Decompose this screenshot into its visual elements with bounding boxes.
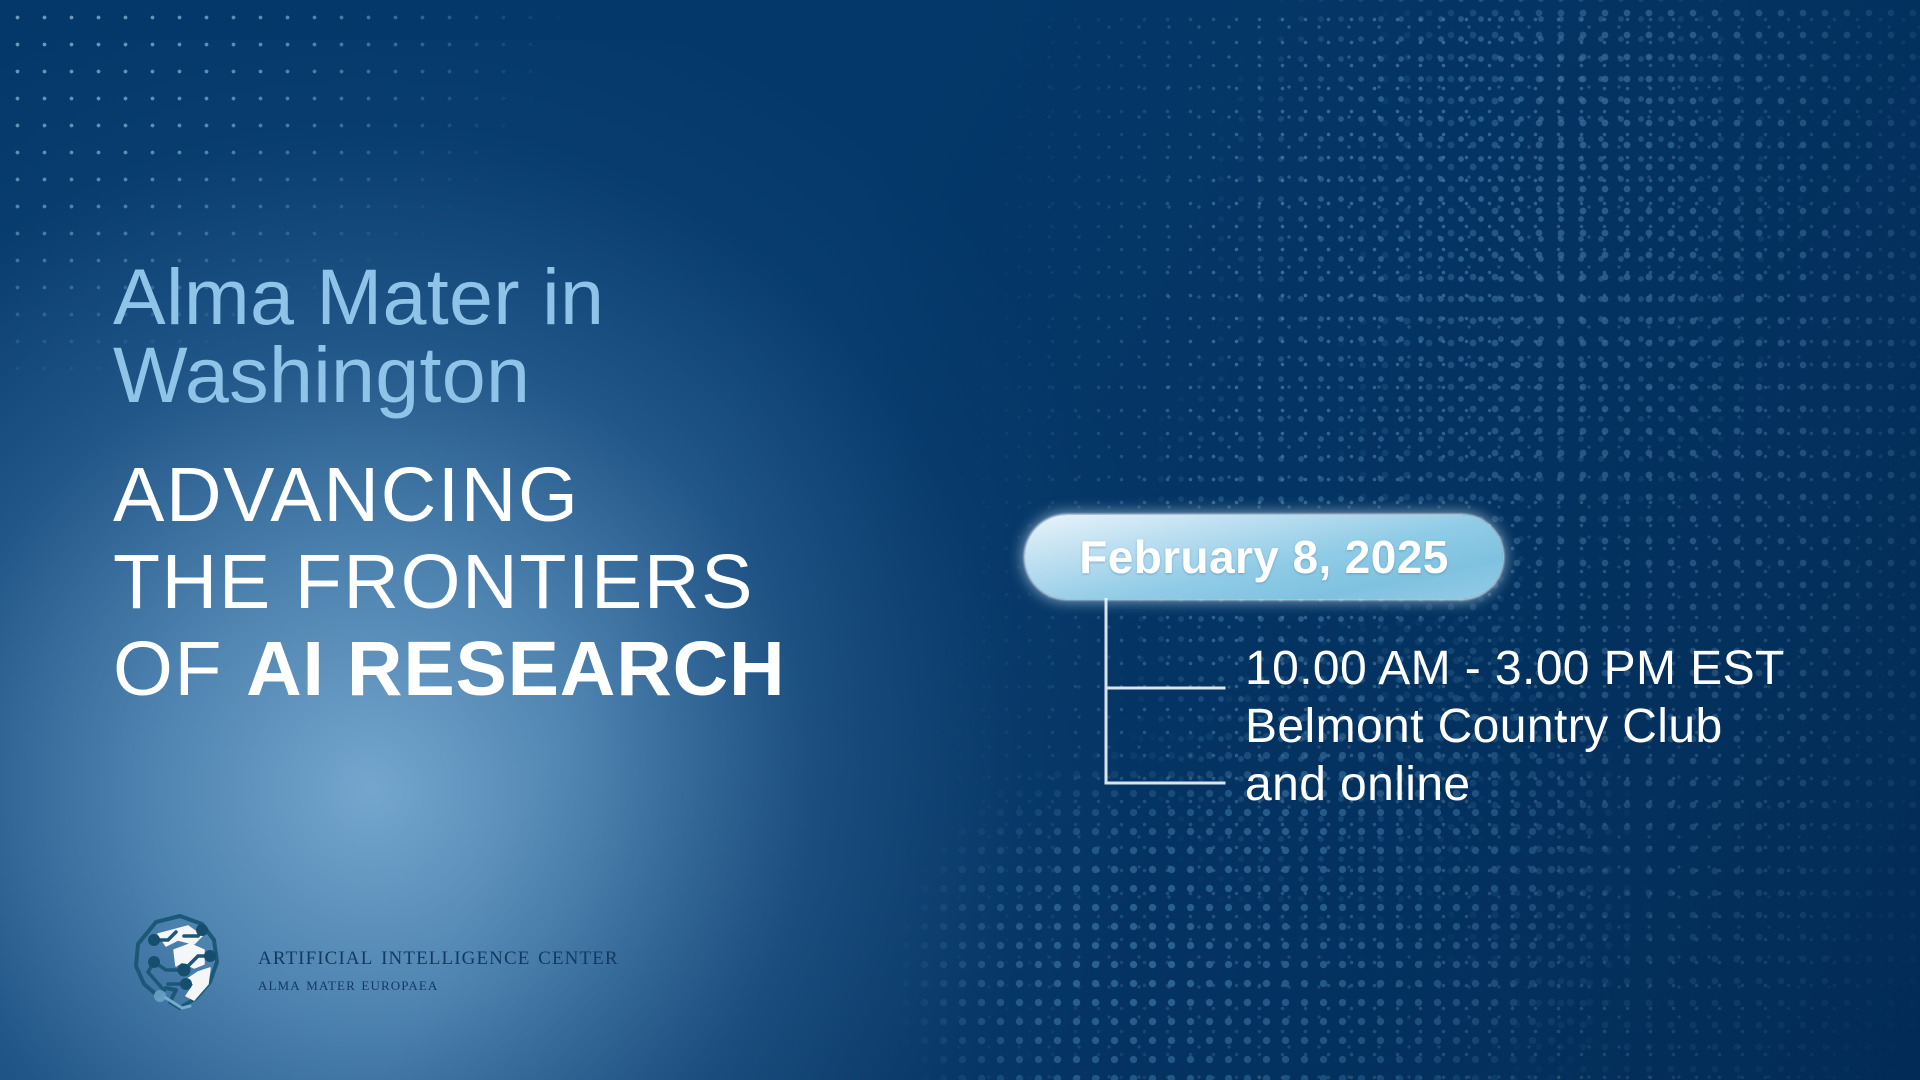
event-poster: Alma Mater in Washington ADVANCING THE F… [0, 0, 1920, 1080]
headline-block: Alma Mater in Washington ADVANCING THE F… [113, 258, 873, 713]
date-badge-label: February 8, 2025 [1079, 530, 1449, 584]
logo-subtitle: Alma Mater Europaea [258, 973, 619, 996]
event-venue: Belmont Country Club [1245, 698, 1865, 756]
event-format: and online [1245, 756, 1865, 814]
event-eyebrow: Alma Mater in Washington [113, 258, 873, 414]
brain-circuit-icon [118, 910, 236, 1022]
logo-wordmark: Artificial Intelligence Center Alma Mate… [258, 937, 619, 996]
headline-line-3-emphasis: AI RESEARCH [246, 626, 785, 712]
event-time: 10.00 AM - 3.00 PM EST [1245, 640, 1865, 698]
headline-line-3: OF AI RESEARCH [113, 626, 873, 713]
logo-title: Artificial Intelligence Center [258, 941, 619, 970]
logo-lockup: Artificial Intelligence Center Alma Mate… [118, 910, 619, 1022]
page-title: ADVANCING THE FRONTIERS OF AI RESEARCH [113, 452, 873, 713]
headline-line-2: THE FRONTIERS [113, 539, 873, 626]
headline-line-1: ADVANCING [113, 452, 873, 539]
headline-line-3-prefix: OF [113, 626, 246, 712]
event-details: 10.00 AM - 3.00 PM EST Belmont Country C… [1245, 640, 1865, 814]
date-badge: February 8, 2025 [1025, 515, 1503, 599]
